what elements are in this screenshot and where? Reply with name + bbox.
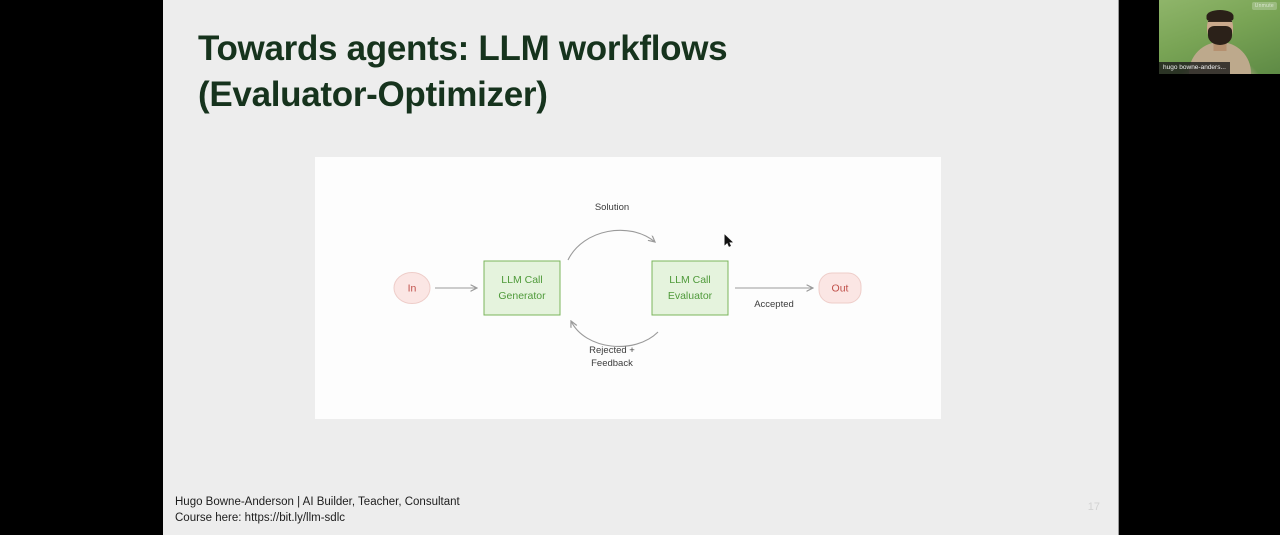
mute-status-badge[interactable]: Unmute bbox=[1252, 2, 1277, 10]
mouse-cursor bbox=[724, 234, 734, 248]
footer-course-link[interactable]: Course here: https://bit.ly/llm-sdlc bbox=[175, 511, 460, 527]
edge-label-solution: Solution bbox=[595, 202, 629, 213]
edge-evaluator-to-generator bbox=[571, 321, 658, 346]
page-title: Towards agents: LLM workflows (Evaluator… bbox=[198, 26, 938, 117]
node-label-evaluator-line-2: Evaluator bbox=[668, 290, 713, 302]
footer: Hugo Bowne-Anderson | AI Builder, Teache… bbox=[175, 495, 460, 527]
presentation-slide: Towards agents: LLM workflows (Evaluator… bbox=[163, 0, 1119, 535]
page-number: 17 bbox=[1088, 501, 1100, 513]
evaluator-optimizer-diagram: In LLM Call Generator Solution bbox=[315, 157, 941, 419]
edge-label-accepted: Accepted bbox=[754, 299, 794, 310]
node-label-evaluator-line-1: LLM Call bbox=[669, 274, 710, 286]
diagram-node-generator: LLM Call Generator bbox=[484, 261, 560, 315]
diagram-card: In LLM Call Generator Solution bbox=[315, 157, 941, 419]
diagram-node-out: Out bbox=[819, 273, 861, 303]
participant-video-tile[interactable]: Unmute hugo bowne-anders... bbox=[1159, 0, 1280, 74]
edge-label-rejected-line-2: Feedback bbox=[591, 358, 633, 369]
participant-beard bbox=[1208, 26, 1232, 45]
screen-root: Towards agents: LLM workflows (Evaluator… bbox=[0, 0, 1280, 535]
node-label-out: Out bbox=[832, 283, 849, 295]
edge-generator-to-evaluator bbox=[568, 230, 655, 260]
footer-author: Hugo Bowne-Anderson | AI Builder, Teache… bbox=[175, 495, 460, 511]
title-line-2: (Evaluator-Optimizer) bbox=[198, 75, 548, 114]
node-label-generator-line-1: LLM Call bbox=[501, 274, 542, 286]
node-label-generator-line-2: Generator bbox=[498, 290, 546, 302]
node-label-in: In bbox=[408, 283, 417, 295]
participant-name-label: hugo bowne-anders... bbox=[1159, 62, 1230, 75]
diagram-node-evaluator: LLM Call Evaluator bbox=[652, 261, 728, 315]
edge-label-rejected-line-1: Rejected + bbox=[589, 345, 635, 356]
title-line-1: Towards agents: LLM workflows bbox=[198, 29, 727, 68]
diagram-node-in: In bbox=[394, 273, 430, 304]
